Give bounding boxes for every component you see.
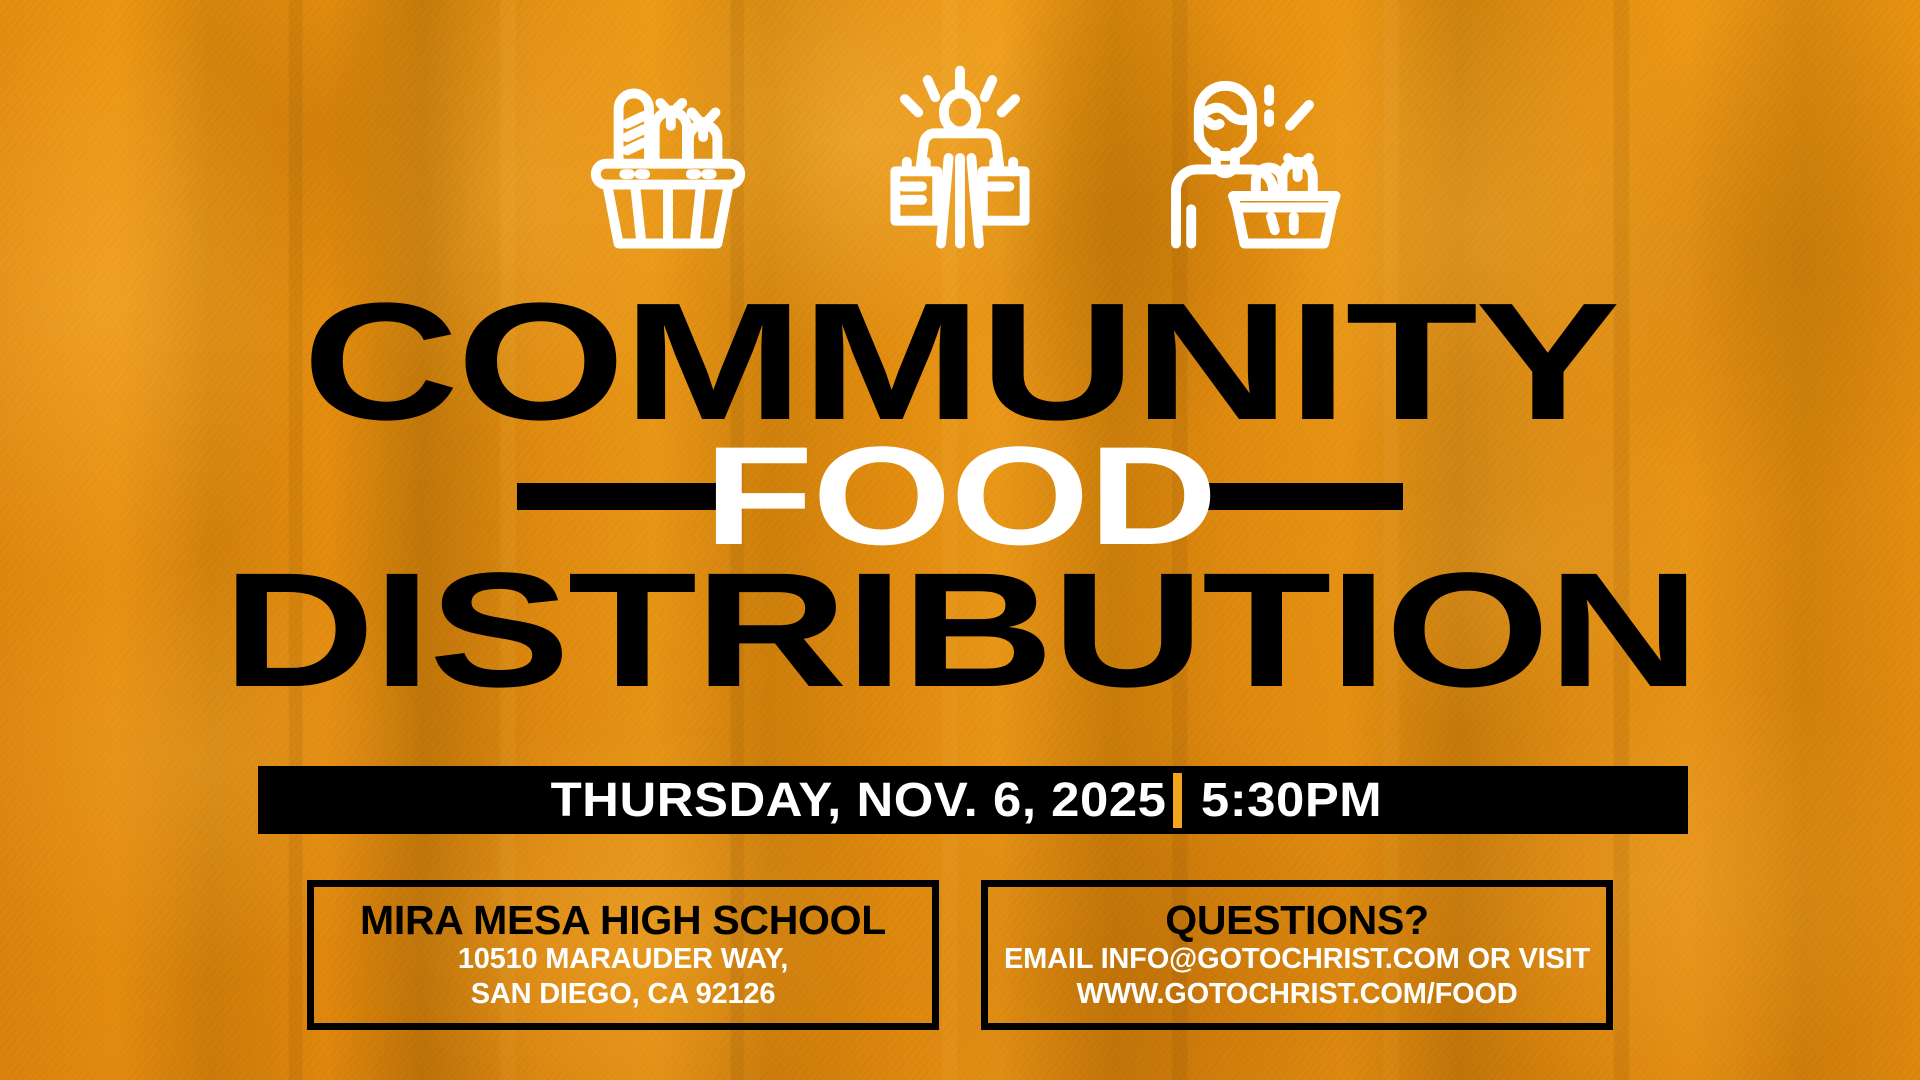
- event-date: THURSDAY, NOV. 6, 2025: [551, 773, 1167, 828]
- location-address-line-2: SAN DIEGO, CA 92126: [471, 977, 776, 1011]
- questions-box: QUESTIONS? EMAIL INFO@GOTOCHRIST.COM OR …: [981, 880, 1613, 1030]
- headline-dash-right: [1190, 483, 1403, 510]
- headline-line-distribution: DISTRIBUTION: [0, 562, 1920, 699]
- poster-content: COMMUNITY FOOD DISTRIBUTION THURSDAY, NO…: [0, 0, 1920, 1080]
- location-box: MIRA MESA HIGH SCHOOL 10510 MARAUDER WAY…: [307, 880, 939, 1030]
- headline-dash-left: [517, 483, 730, 510]
- community-food-distribution-poster: COMMUNITY FOOD DISTRIBUTION THURSDAY, NO…: [0, 0, 1920, 1080]
- icon-row: [0, 58, 1920, 258]
- headline-line-community: COMMUNITY: [0, 292, 1920, 432]
- questions-website-line[interactable]: WWW.GOTOCHRIST.COM/FOOD: [1076, 977, 1517, 1011]
- headline-block: COMMUNITY FOOD DISTRIBUTION: [0, 292, 1920, 699]
- event-time: 5:30PM: [1201, 773, 1382, 828]
- grocery-basket-icon: [568, 58, 768, 258]
- questions-title: QUESTIONS?: [1165, 899, 1429, 942]
- person-holding-box-icon: [1152, 58, 1352, 258]
- headline-line-food-row: FOOD: [0, 440, 1920, 552]
- location-title: MIRA MESA HIGH SCHOOL: [360, 899, 886, 942]
- date-time-divider: [1173, 773, 1182, 828]
- questions-email-line[interactable]: EMAIL INFO@GOTOCHRIST.COM OR VISIT: [1004, 942, 1590, 976]
- info-row: MIRA MESA HIGH SCHOOL 10510 MARAUDER WAY…: [0, 880, 1920, 1030]
- person-carrying-bags-icon: [860, 58, 1060, 258]
- date-time-banner: THURSDAY, NOV. 6, 2025 5:30PM: [258, 766, 1688, 834]
- location-address-line-1: 10510 MARAUDER WAY,: [458, 942, 788, 976]
